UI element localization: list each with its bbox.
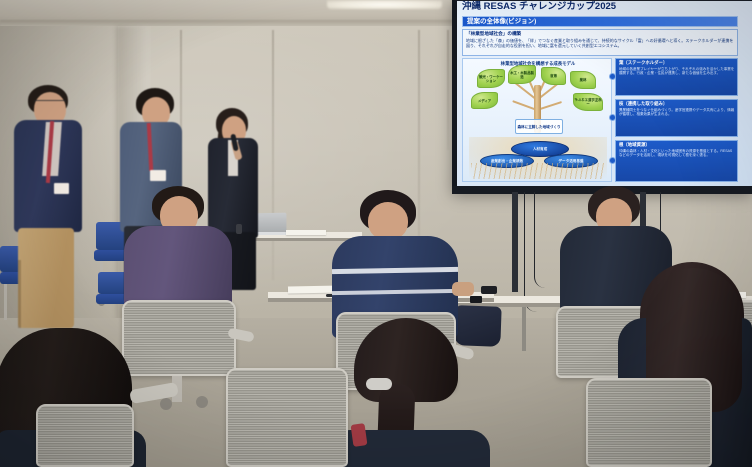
tree-diagram-caption: 林業型地域社会を構想する成長モデル [463,61,613,67]
table-leg [522,307,526,351]
card-bullet-icon [609,73,616,80]
slide-card-body: 沖縄の森林・人材・文化といった地域固有の資源を基盤とする。RESASなどのデータ… [619,149,735,158]
trousers [18,228,74,328]
slide-section-header-label: 提案の全体像(ビジョン) [463,17,737,27]
slide-right-column: 葉〔ステークホルダー〕 地域の各産業プレイヤーが立ち上がり、それぞれの強みを活か… [615,58,738,182]
papers [286,230,326,235]
wall-panel-seam [447,30,449,150]
slide-section-header: 提案の全体像(ビジョン) [462,16,738,27]
card-bullet-icon [609,157,616,164]
name-badge [54,183,69,194]
tree-leaf: 林業 [570,71,596,89]
slide-card-heading: 枝〔連携した取り組み〕 [619,101,667,107]
slide-card-roots: 根〔地域資源〕 沖縄の森林・人材・文化といった地域固有の資源を基盤とする。RES… [615,140,738,182]
slide-intro-body: 地域に根ざした「森」の価値を、「絆」でつなぐ産業と取り組みを通じて、持続的なサイ… [466,38,736,48]
slide-card-leaves: 葉〔ステークホルダー〕 地域の各産業プレイヤーが立ち上がり、それぞれの強みを活か… [615,58,738,96]
display-stand-post [512,192,518,292]
presentation-room-photo: 沖縄 RESAS チャレンジカップ2025 提案の全体像(ビジョン) 「林業型地… [0,0,752,467]
tree-leaf: メディア [471,92,498,109]
slide-intro-box: 「林業型地域社会」の構築 地域に根ざした「森」の価値を、「絆」でつなぐ産業と取り… [462,29,738,56]
remote-clicker-icon[interactable] [481,286,497,294]
slide-event-title: 沖縄 RESAS チャレンジカップ2025 [462,1,747,14]
microphone-stand [236,224,242,234]
tree-diagram-panel: 林業型地域社会を構想する成長モデル 観光・ワーケーション 木工・木製品製造 教育… [462,58,612,182]
slide-card-body: 異業種同士をつなぐ仕組みづくり。産学官連携やデータ共有により、情報が循環し、相乗… [619,108,735,117]
presentation-slide: 沖縄 RESAS チャレンジカップ2025 提案の全体像(ビジョン) 「林業型地… [457,1,752,187]
backpack [454,305,501,347]
tree-leaf: 教育 [541,67,566,85]
tree-leaf: 木工・木製品製造 [508,65,536,84]
lanyard [351,423,368,447]
ceiling-light [327,0,442,9]
eyeglasses-icon [33,100,67,108]
slide-intro-heading: 「林業型地域社会」の構築 [466,31,521,37]
laptop-screen[interactable] [255,213,287,234]
hair-tie [366,378,392,390]
tree-root-fibers [471,163,605,179]
slide-card-heading: 葉〔ステークホルダー〕 [619,60,667,66]
slide-card-body: 地域の各産業プレイヤーが立ち上がり、それぞれの強みを活かした事業を展開する。行政… [619,67,735,76]
smartphone[interactable] [470,296,482,303]
display-cable [534,192,545,288]
slide-card-heading: 根〔地域資源〕 [619,142,650,148]
hand [452,282,474,296]
slide-card-branches: 枝〔連携した取り組み〕 異業種同士をつなぐ仕組みづくり。産学官連携やデータ共有に… [615,99,738,137]
tree-leaf: 観光・ワーケーション [477,69,505,88]
card-bullet-icon [609,114,616,121]
name-badge [150,170,166,181]
wall-panel-seam [272,30,274,280]
tree-leaf: 再生可能エネルギー [573,93,603,111]
tree-core-label: 森林に立脚した地域づくり [515,119,563,134]
